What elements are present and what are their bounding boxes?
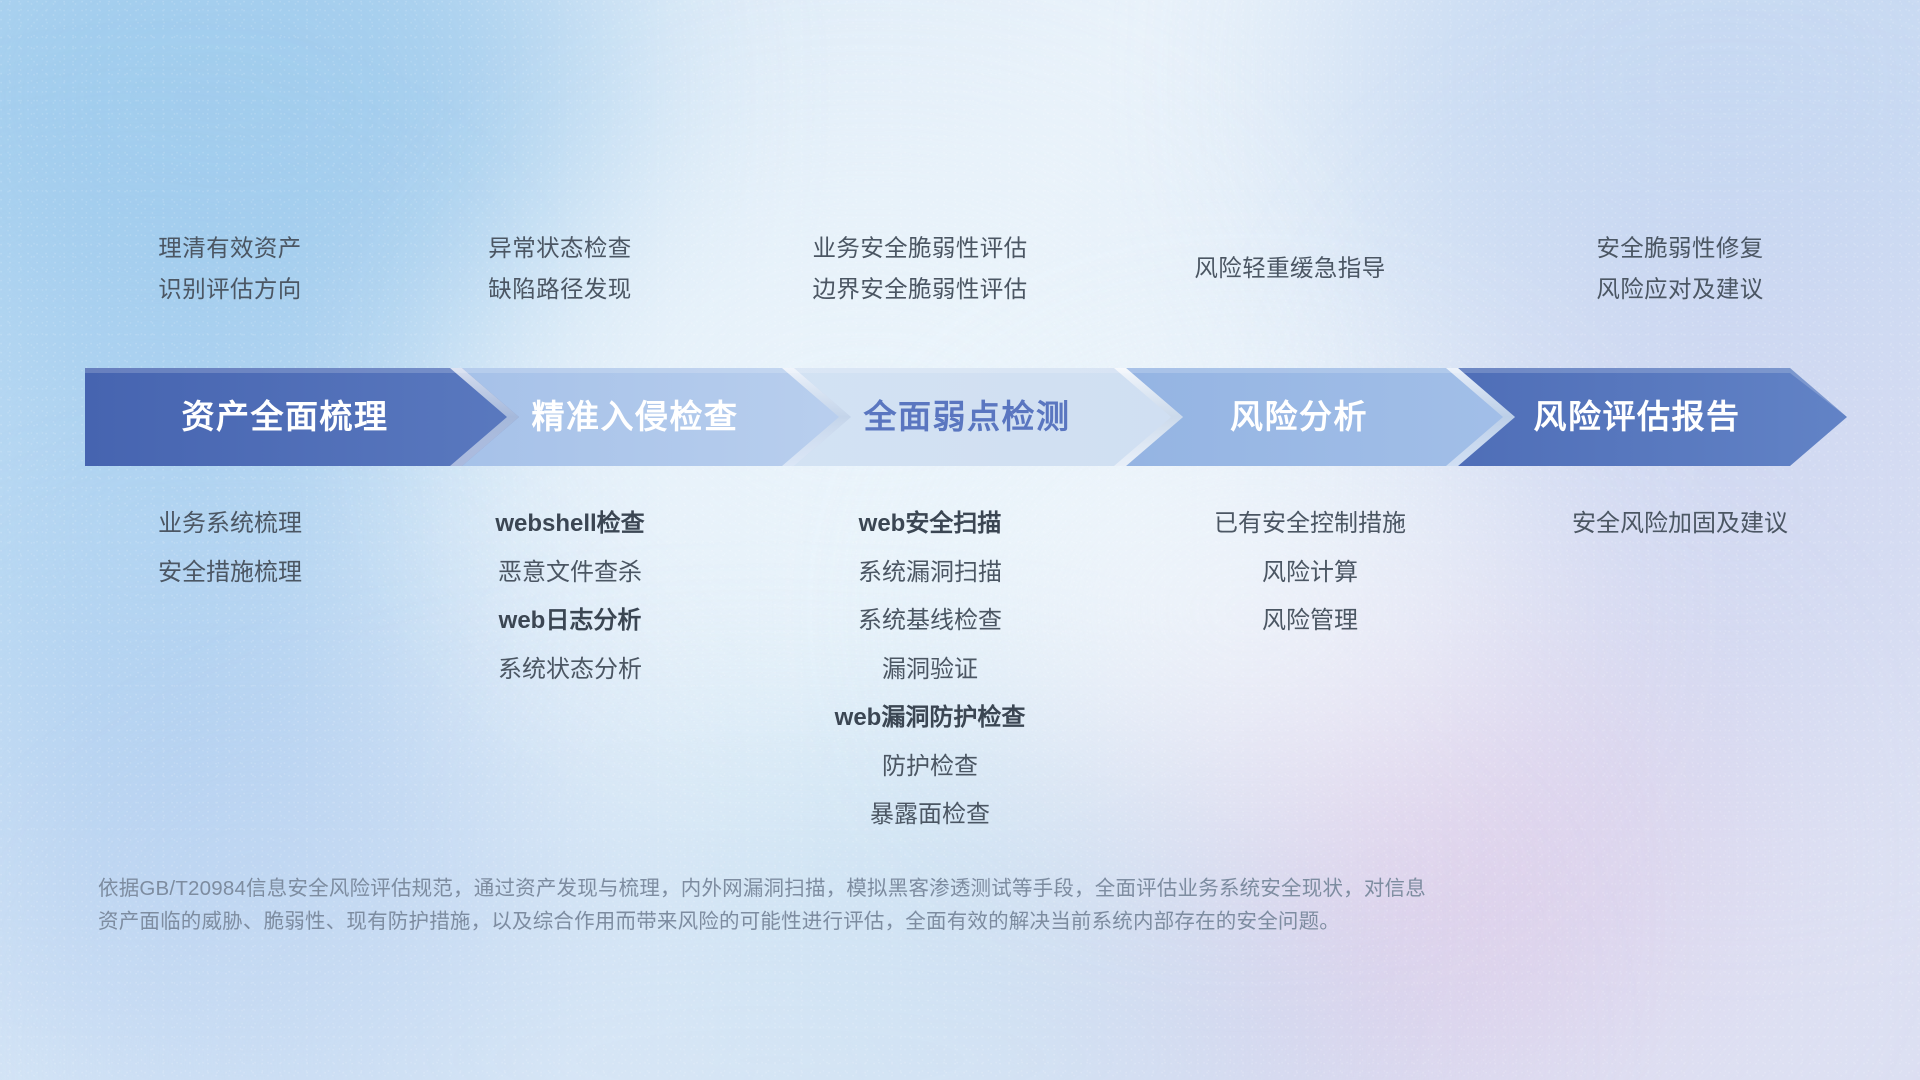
top-desc-line: 风险轻重缓急指导 — [1090, 248, 1490, 289]
chevron-asset-inventory[interactable] — [85, 368, 519, 466]
stage-top-descriptions: 理清有效资产 识别评估方向 异常状态检查 缺陷路径发现 业务安全脆弱性评估 边界… — [0, 228, 1920, 336]
bottom-list-item: 系统基线检查 — [730, 597, 1130, 646]
top-desc-asset-inventory: 理清有效资产 识别评估方向 — [30, 228, 430, 310]
top-desc-weakness-detection: 业务安全脆弱性评估 边界安全脆弱性评估 — [700, 228, 1140, 310]
chevron-shapes — [85, 368, 1855, 466]
bottom-list-weakness-detection: web安全扫描 系统漏洞扫描 系统基线检查 漏洞验证 web漏洞防护检查 防护检… — [730, 500, 1130, 840]
bottom-list-risk-analysis: 已有安全控制措施 风险计算 风险管理 — [1110, 500, 1510, 646]
top-desc-assessment-report: 安全脆弱性修复 风险应对及建议 — [1480, 228, 1880, 310]
top-desc-risk-analysis: 风险轻重缓急指导 — [1090, 248, 1490, 289]
bottom-list-item: 风险管理 — [1110, 597, 1510, 646]
top-desc-line: 边界安全脆弱性评估 — [700, 269, 1140, 310]
footer-description: 依据GB/T20984信息安全风险评估规范，通过资产发现与梳理，内外网漏洞扫描，… — [98, 872, 1738, 938]
bottom-list-item: 暴露面检查 — [730, 791, 1130, 840]
process-chevron-ribbon: 资产全面梳理 精准入侵检查 全面弱点检测 风险分析 风险评估报告 — [85, 368, 1855, 466]
risk-assessment-process-diagram: 理清有效资产 识别评估方向 异常状态检查 缺陷路径发现 业务安全脆弱性评估 边界… — [0, 0, 1920, 1080]
top-desc-line: 缺陷路径发现 — [380, 269, 740, 310]
bottom-list-item: web漏洞防护检查 — [730, 694, 1130, 743]
footer-line-2: 资产面临的威胁、脆弱性、现有防护措施，以及综合作用而带来风险的可能性进行评估，全… — [98, 905, 1738, 938]
bottom-list-item: 防护检查 — [730, 743, 1130, 792]
top-desc-line: 理清有效资产 — [30, 228, 430, 269]
top-desc-line: 异常状态检查 — [380, 228, 740, 269]
bottom-list-item: 恶意文件查杀 — [370, 549, 770, 598]
bottom-list-item: 风险计算 — [1110, 549, 1510, 598]
top-desc-intrusion-check: 异常状态检查 缺陷路径发现 — [380, 228, 740, 310]
bottom-list-item: 系统漏洞扫描 — [730, 549, 1130, 598]
top-desc-line: 风险应对及建议 — [1480, 269, 1880, 310]
bottom-list-intrusion-check: webshell检查 恶意文件查杀 web日志分析 系统状态分析 — [370, 500, 770, 694]
top-desc-line: 识别评估方向 — [30, 269, 430, 310]
footer-line-1: 依据GB/T20984信息安全风险评估规范，通过资产发现与梳理，内外网漏洞扫描，… — [98, 872, 1738, 905]
bottom-list-item: web安全扫描 — [730, 500, 1130, 549]
bottom-list-item: 系统状态分析 — [370, 646, 770, 695]
top-desc-line: 安全脆弱性修复 — [1480, 228, 1880, 269]
bottom-list-item: 已有安全控制措施 — [1110, 500, 1510, 549]
bottom-list-assessment-report: 安全风险加固及建议 — [1460, 500, 1900, 549]
bottom-list-item: web日志分析 — [370, 597, 770, 646]
bottom-list-item: webshell检查 — [370, 500, 770, 549]
top-desc-line: 业务安全脆弱性评估 — [700, 228, 1140, 269]
bottom-list-item: 漏洞验证 — [730, 646, 1130, 695]
bottom-list-item: 安全风险加固及建议 — [1460, 500, 1900, 549]
